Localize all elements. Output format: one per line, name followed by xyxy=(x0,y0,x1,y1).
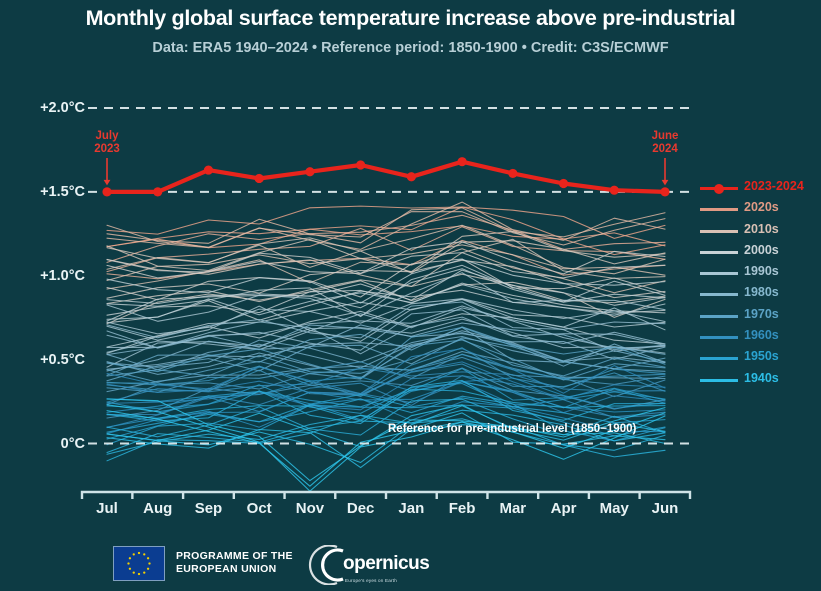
legend-item-1940s[interactable]: 1940s xyxy=(700,370,821,391)
legend-swatch xyxy=(700,357,738,360)
climate-chart-infographic: Monthly global surface temperature incre… xyxy=(0,0,821,591)
x-axis-tick-label: Mar xyxy=(499,500,526,517)
legend-swatch xyxy=(700,336,738,339)
legend-label: 2023-2024 xyxy=(744,179,804,193)
legend-label: 1940s xyxy=(744,371,779,385)
legend-item-1980s[interactable]: 1980s xyxy=(700,284,821,305)
legend-swatch xyxy=(700,293,738,296)
copernicus-wordmark: opernicus xyxy=(343,553,429,575)
x-axis-tick-label: May xyxy=(600,500,629,517)
legend-item-1960s[interactable]: 1960s xyxy=(700,327,821,348)
legend-swatch xyxy=(700,251,738,254)
eu-programme-line1: PROGRAMME OF THE xyxy=(176,550,293,563)
x-axis-tick-label: Jan xyxy=(398,500,424,517)
y-axis-tick-label: +1.0°C xyxy=(7,268,85,284)
legend-label: 2000s xyxy=(744,243,779,257)
legend-item-2010s[interactable]: 2010s xyxy=(700,221,821,242)
eu-flag-icon xyxy=(113,546,165,581)
legend-label: 1980s xyxy=(744,285,779,299)
legend-item-1990s[interactable]: 1990s xyxy=(700,263,821,284)
annotation-july-2023: July 2023 xyxy=(94,130,120,155)
x-axis-tick-label: Sep xyxy=(195,500,223,517)
x-axis-tick-label: Nov xyxy=(296,500,324,517)
annotation-june-2024: June 2024 xyxy=(652,130,679,155)
annotation-july-line2: 2023 xyxy=(94,143,120,156)
x-axis-tick-label: Feb xyxy=(449,500,476,517)
reference-line-note: Reference for pre-industrial level (1850… xyxy=(388,423,636,435)
legend-item-1970s[interactable]: 1970s xyxy=(700,306,821,327)
y-axis-labels: 0°C+0.5°C+1.0°C+1.5°C+2.0°C xyxy=(0,0,85,591)
legend-label: 1950s xyxy=(744,349,779,363)
eu-programme-line2: EUROPEAN UNION xyxy=(176,563,293,576)
legend-label: 2020s xyxy=(744,200,779,214)
x-axis xyxy=(82,492,690,499)
legend-swatch xyxy=(700,379,738,382)
legend-item-2023-2024[interactable]: 2023-2024 xyxy=(700,178,821,199)
legend-label: 2010s xyxy=(744,222,779,236)
legend-label: 1960s xyxy=(744,328,779,342)
y-axis-tick-label: +1.5°C xyxy=(7,184,85,200)
legend-marker-icon xyxy=(714,184,724,194)
legend-item-2000s[interactable]: 2000s xyxy=(700,242,821,263)
x-axis-tick-label: Aug xyxy=(143,500,172,517)
legend-swatch xyxy=(700,272,738,275)
legend-item-1950s[interactable]: 1950s xyxy=(700,348,821,369)
x-axis-tick-label: Jun xyxy=(652,500,679,517)
annotation-june-line1: June xyxy=(652,130,679,143)
legend-swatch xyxy=(700,230,738,233)
legend-item-2020s[interactable]: 2020s xyxy=(700,199,821,220)
copernicus-logo: opernicus Europe's eyes on Earth xyxy=(303,545,419,590)
annotation-july-line1: July xyxy=(94,130,120,143)
x-axis-tick-label: Oct xyxy=(247,500,272,517)
eu-programme-label: PROGRAMME OF THE EUROPEAN UNION xyxy=(176,550,293,576)
legend-swatch xyxy=(700,208,738,211)
y-axis-tick-label: +2.0°C xyxy=(7,100,85,116)
copernicus-tagline: Europe's eyes on Earth xyxy=(345,578,397,583)
eu-stars-icon xyxy=(114,547,164,580)
annotation-june-line2: 2024 xyxy=(652,143,679,156)
legend-label: 1970s xyxy=(744,307,779,321)
x-axis-tick-label: Dec xyxy=(347,500,375,517)
y-axis-tick-label: 0°C xyxy=(7,436,85,452)
decade-series-lines xyxy=(107,202,665,491)
footer-logos: PROGRAMME OF THE EUROPEAN UNION opernicu… xyxy=(0,536,821,591)
y-axis-tick-label: +0.5°C xyxy=(7,352,85,368)
chart-legend: 2023-20242020s2010s2000s1990s1980s1970s1… xyxy=(700,178,821,391)
x-axis-tick-label: Apr xyxy=(551,500,577,517)
x-axis-tick-label: Jul xyxy=(96,500,118,517)
legend-label: 1990s xyxy=(744,264,779,278)
legend-swatch xyxy=(700,315,738,318)
highlight-series-2023-2024 xyxy=(102,157,669,196)
